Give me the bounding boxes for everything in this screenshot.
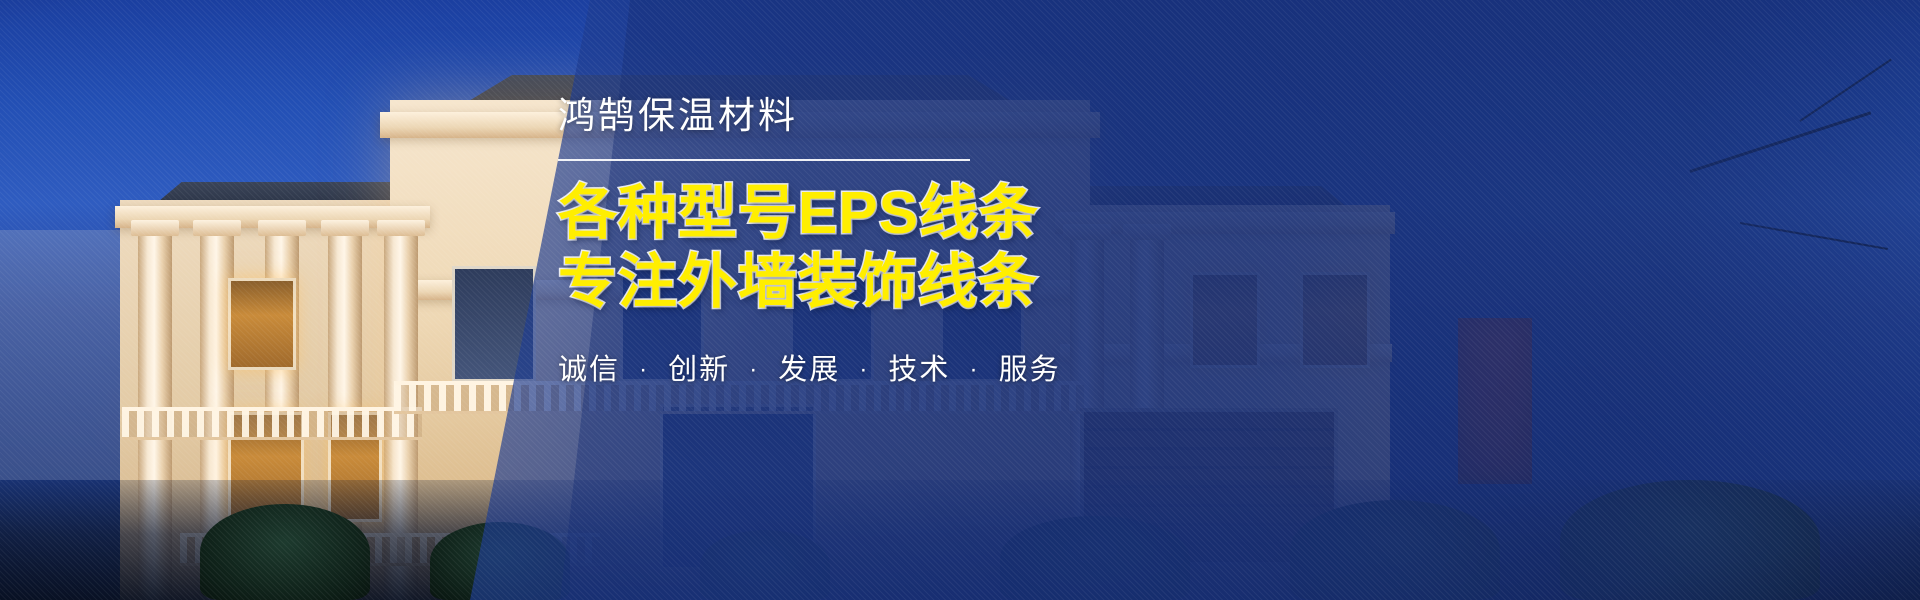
tagline-separator-3: · <box>961 356 989 383</box>
headline-group: 各种型号EPS线条 专注外墙装饰线条 <box>558 179 1198 318</box>
hero-banner: 鸿鹄保温材料 各种型号EPS线条 专注外墙装饰线条 诚信 · 创新 · 发展 ·… <box>0 0 1920 600</box>
company-subtitle: 鸿鹄保温材料 <box>558 96 1198 137</box>
tagline-separator-2: · <box>850 356 878 383</box>
tagline-separator-0: · <box>630 356 658 383</box>
headline-line-1: 各种型号EPS线条 <box>558 179 1198 249</box>
tagline-item-3: 技术 <box>888 354 950 386</box>
divider-rule <box>558 159 970 161</box>
balustrade-left <box>122 407 422 440</box>
tagline: 诚信 · 创新 · 发展 · 技术 · 服务 <box>558 346 1198 388</box>
banner-content: 鸿鹄保温材料 各种型号EPS线条 专注外墙装饰线条 诚信 · 创新 · 发展 ·… <box>558 96 1198 388</box>
tagline-separator-1: · <box>740 356 768 383</box>
tagline-item-1: 创新 <box>668 354 730 386</box>
tagline-item-4: 服务 <box>999 354 1061 386</box>
tagline-item-2: 发展 <box>778 354 840 386</box>
headline-line-2: 专注外墙装饰线条 <box>558 248 1198 318</box>
window-l1 <box>228 278 296 370</box>
tagline-item-0: 诚信 <box>558 354 620 386</box>
shrub-1 <box>200 504 370 600</box>
